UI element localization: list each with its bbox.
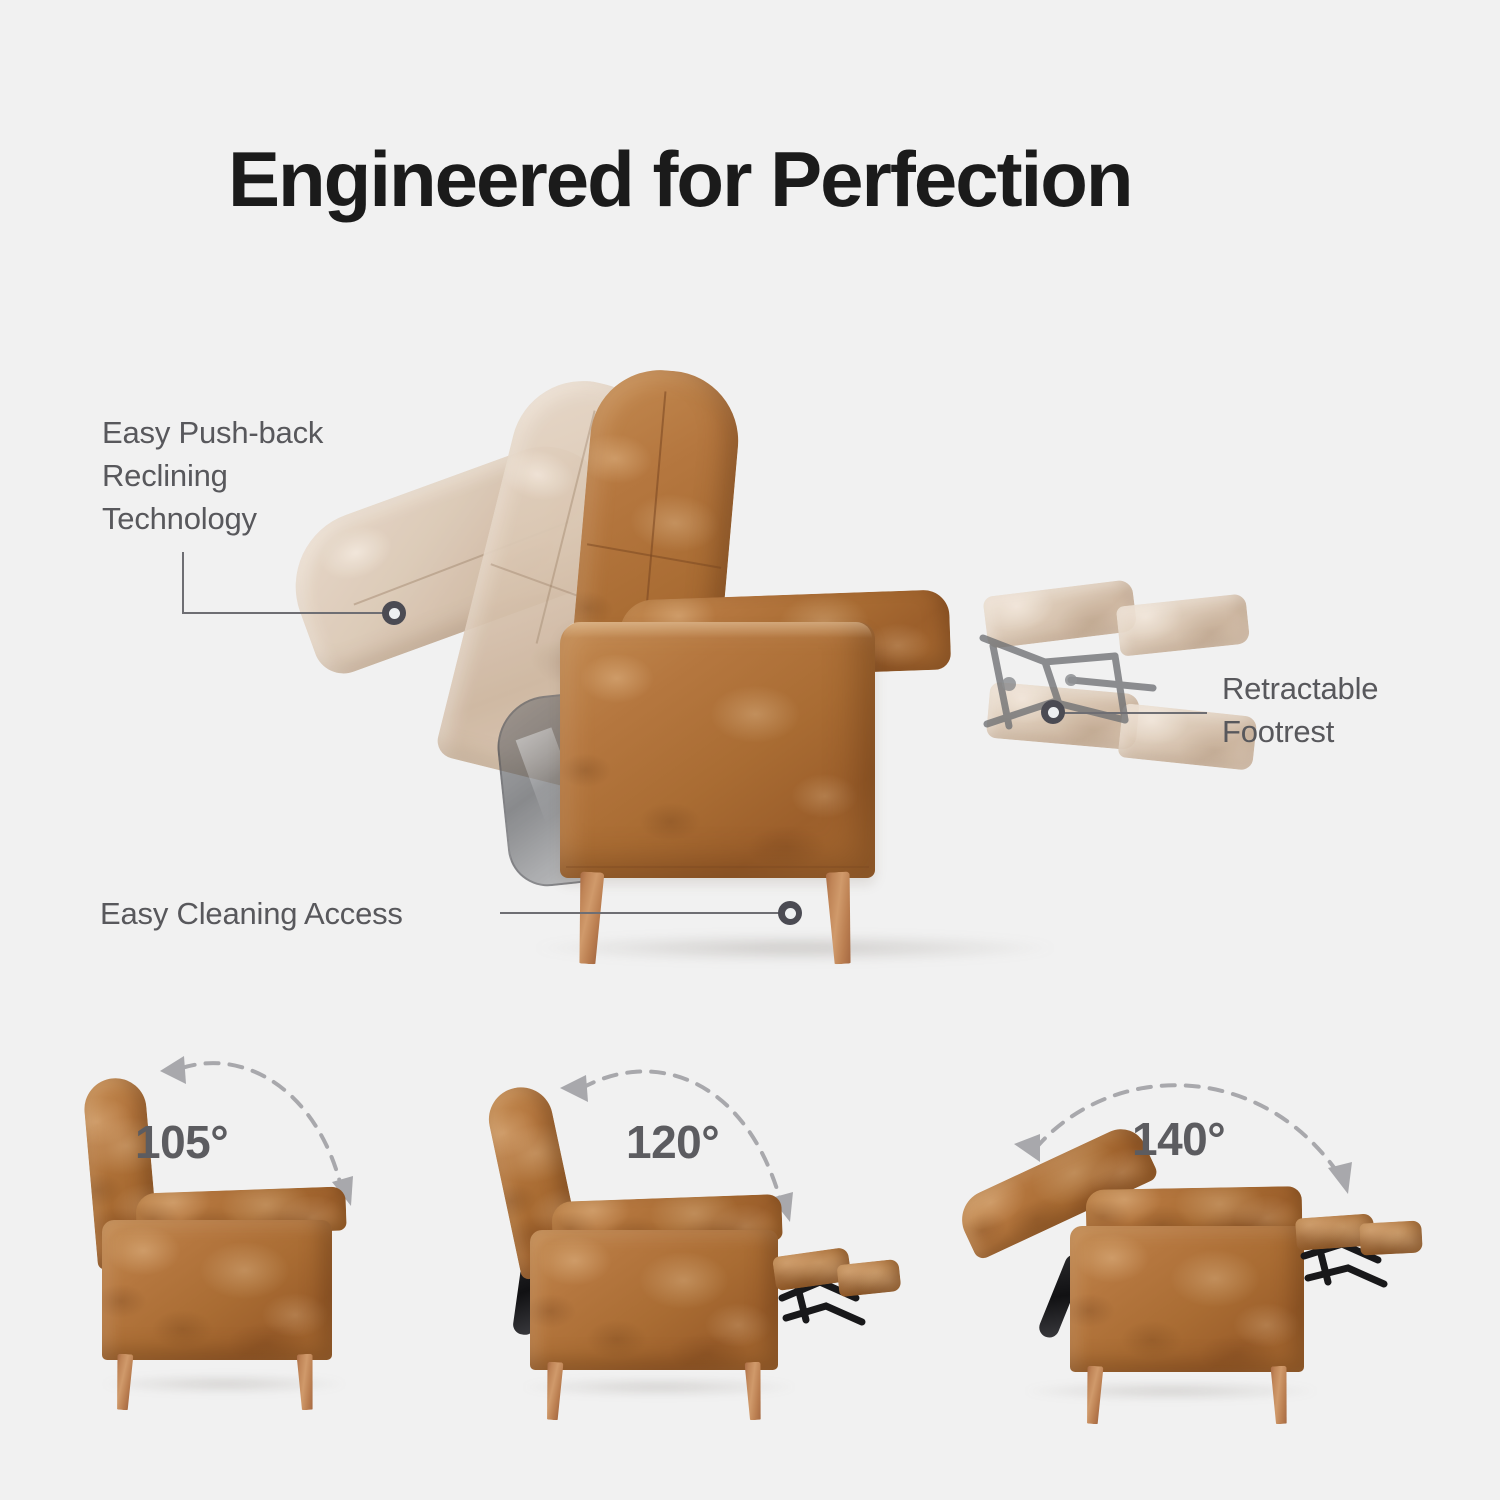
recline-position-140 (960, 1030, 1380, 1430)
leader-line-easy-cleaning (500, 912, 792, 914)
callout-line-1: Easy Push-back (102, 412, 432, 455)
page-title: Engineered for Perfection (228, 140, 1132, 218)
callout-line-1: Retractable (1222, 668, 1482, 711)
marker-dot-retractable-footrest[interactable] (1041, 700, 1065, 724)
angle-label-105: 105° (135, 1115, 228, 1169)
callout-line-2: Footrest (1222, 711, 1482, 754)
hero-recliner-illustration (430, 360, 1220, 1000)
marker-dot-push-back[interactable] (382, 601, 406, 625)
leader-line-footrest (1052, 712, 1207, 714)
callout-label-retractable-footrest: Retractable Footrest (1222, 668, 1482, 754)
leader-line-push-back-horizontal (182, 612, 394, 614)
callout-label-push-back: Easy Push-back Reclining Technology (102, 412, 432, 540)
marker-dot-easy-cleaning-access[interactable] (778, 901, 802, 925)
chair-body-outside-arm (560, 622, 875, 878)
callout-label-easy-cleaning-access: Easy Cleaning Access (100, 893, 403, 936)
thumb-footrest-extension (836, 1259, 901, 1297)
hero-floor-shadow (535, 935, 1055, 961)
callout-line-3: Technology (102, 498, 432, 541)
thumb-footrest-extension (1359, 1220, 1423, 1255)
angle-label-140: 140° (1132, 1112, 1225, 1166)
recline-position-105 (70, 1030, 490, 1430)
recline-position-120 (490, 1030, 910, 1430)
angle-label-120: 120° (626, 1115, 719, 1169)
callout-line-2: Reclining (102, 455, 432, 498)
leader-line-push-back-vertical (182, 552, 184, 614)
thumb-chair-body (102, 1220, 332, 1360)
